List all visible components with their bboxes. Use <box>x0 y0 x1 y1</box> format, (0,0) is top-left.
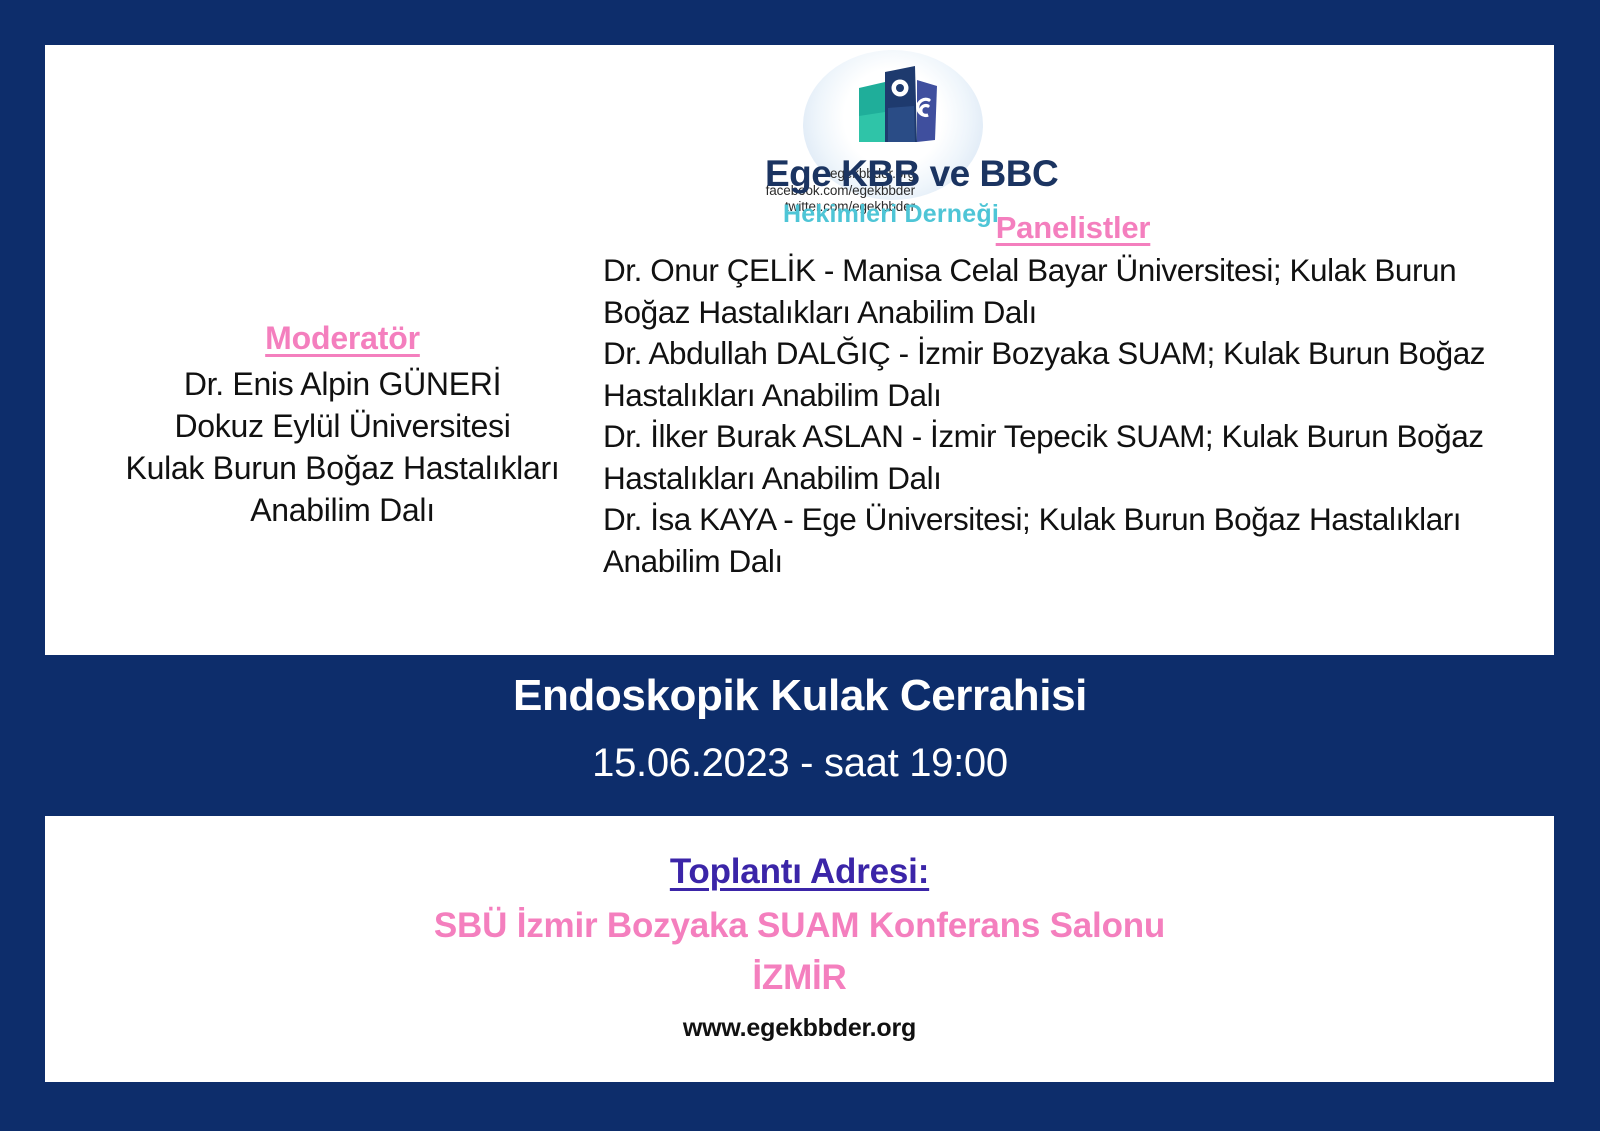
poster-root: egekbbder.org facebook.com/egekbbder twi… <box>0 0 1600 1131</box>
panelists-heading: Panelistler <box>603 210 1543 246</box>
event-band: Endoskopik Kulak Cerrahisi 15.06.2023 - … <box>0 655 1600 838</box>
ent-logo-icon <box>845 62 945 154</box>
moderator-department-line-2: Anabilim Dalı <box>60 489 625 531</box>
panelist-entry: Dr. Onur ÇELİK - Manisa Celal Bayar Üniv… <box>603 250 1543 333</box>
panelist-entry: Dr. İlker Burak ASLAN - İzmir Tepecik SU… <box>603 416 1543 499</box>
moderator-name: Dr. Enis Alpin GÜNERİ <box>60 363 625 405</box>
logo-name: Ege KBB ve BBC <box>765 153 1025 195</box>
panelist-entry: Dr. Abdullah DALĞIÇ - İzmir Bozyaka SUAM… <box>603 333 1543 416</box>
address-city: İZMİR <box>45 958 1554 998</box>
address-heading: Toplantı Adresi: <box>45 852 1554 892</box>
moderator-department-line-1: Kulak Burun Boğaz Hastalıkları <box>60 447 625 489</box>
footer-website: www.egekbbder.org <box>45 1014 1554 1043</box>
panelists-section: Panelistler Dr. Onur ÇELİK - Manisa Cela… <box>603 210 1543 582</box>
moderator-section: Moderatör Dr. Enis Alpin GÜNERİ Dokuz Ey… <box>60 320 625 531</box>
address-venue: SBÜ İzmir Bozyaka SUAM Konferans Salonu <box>45 906 1554 946</box>
event-title: Endoskopik Kulak Cerrahisi <box>0 671 1600 721</box>
speakers-panel: egekbbder.org facebook.com/egekbbder twi… <box>45 45 1554 655</box>
panelist-entry: Dr. İsa KAYA - Ege Üniversitesi; Kulak B… <box>603 499 1543 582</box>
event-datetime: 15.06.2023 - saat 19:00 <box>0 741 1600 786</box>
moderator-institution: Dokuz Eylül Üniversitesi <box>60 405 625 447</box>
moderator-heading: Moderatör <box>60 320 625 357</box>
address-panel: Toplantı Adresi: SBÜ İzmir Bozyaka SUAM … <box>45 816 1554 1082</box>
